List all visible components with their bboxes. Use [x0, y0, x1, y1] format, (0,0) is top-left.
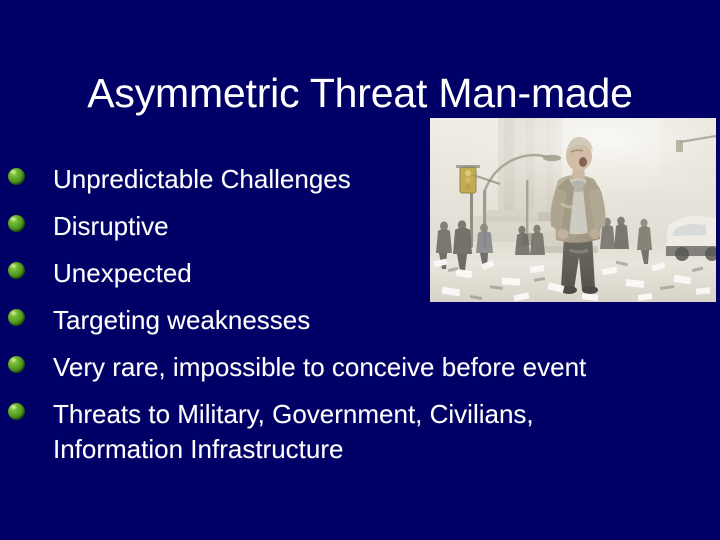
list-item: Disruptive: [6, 209, 666, 251]
list-item: Targeting weaknesses: [6, 303, 666, 345]
bullet-text: Targeting weaknesses: [53, 303, 666, 338]
bullet-text: Unpredictable Challenges: [53, 162, 666, 197]
list-item: Unpredictable Challenges: [6, 162, 666, 204]
green-sphere-bullet-icon: [8, 403, 25, 420]
list-item: Threats to Military, Government, Civilia…: [6, 397, 666, 467]
green-sphere-bullet-icon: [8, 309, 25, 326]
bullet-text: Unexpected: [53, 256, 666, 291]
slide-title: Asymmetric Threat Man-made: [0, 69, 720, 117]
green-sphere-bullet-icon: [8, 215, 25, 232]
list-item: Very rare, impossible to conceive before…: [6, 350, 666, 392]
green-sphere-bullet-icon: [8, 356, 25, 373]
green-sphere-bullet-icon: [8, 262, 25, 279]
bullet-text: Threats to Military, Government, Civilia…: [53, 397, 666, 467]
bullet-list: Unpredictable Challenges Disruptive Unex…: [6, 162, 666, 472]
green-sphere-bullet-icon: [8, 168, 25, 185]
bullet-text: Disruptive: [53, 209, 666, 244]
bullet-text: Very rare, impossible to conceive before…: [53, 350, 666, 385]
list-item: Unexpected: [6, 256, 666, 298]
presentation-slide: Asymmetric Threat Man-made: [0, 0, 720, 540]
